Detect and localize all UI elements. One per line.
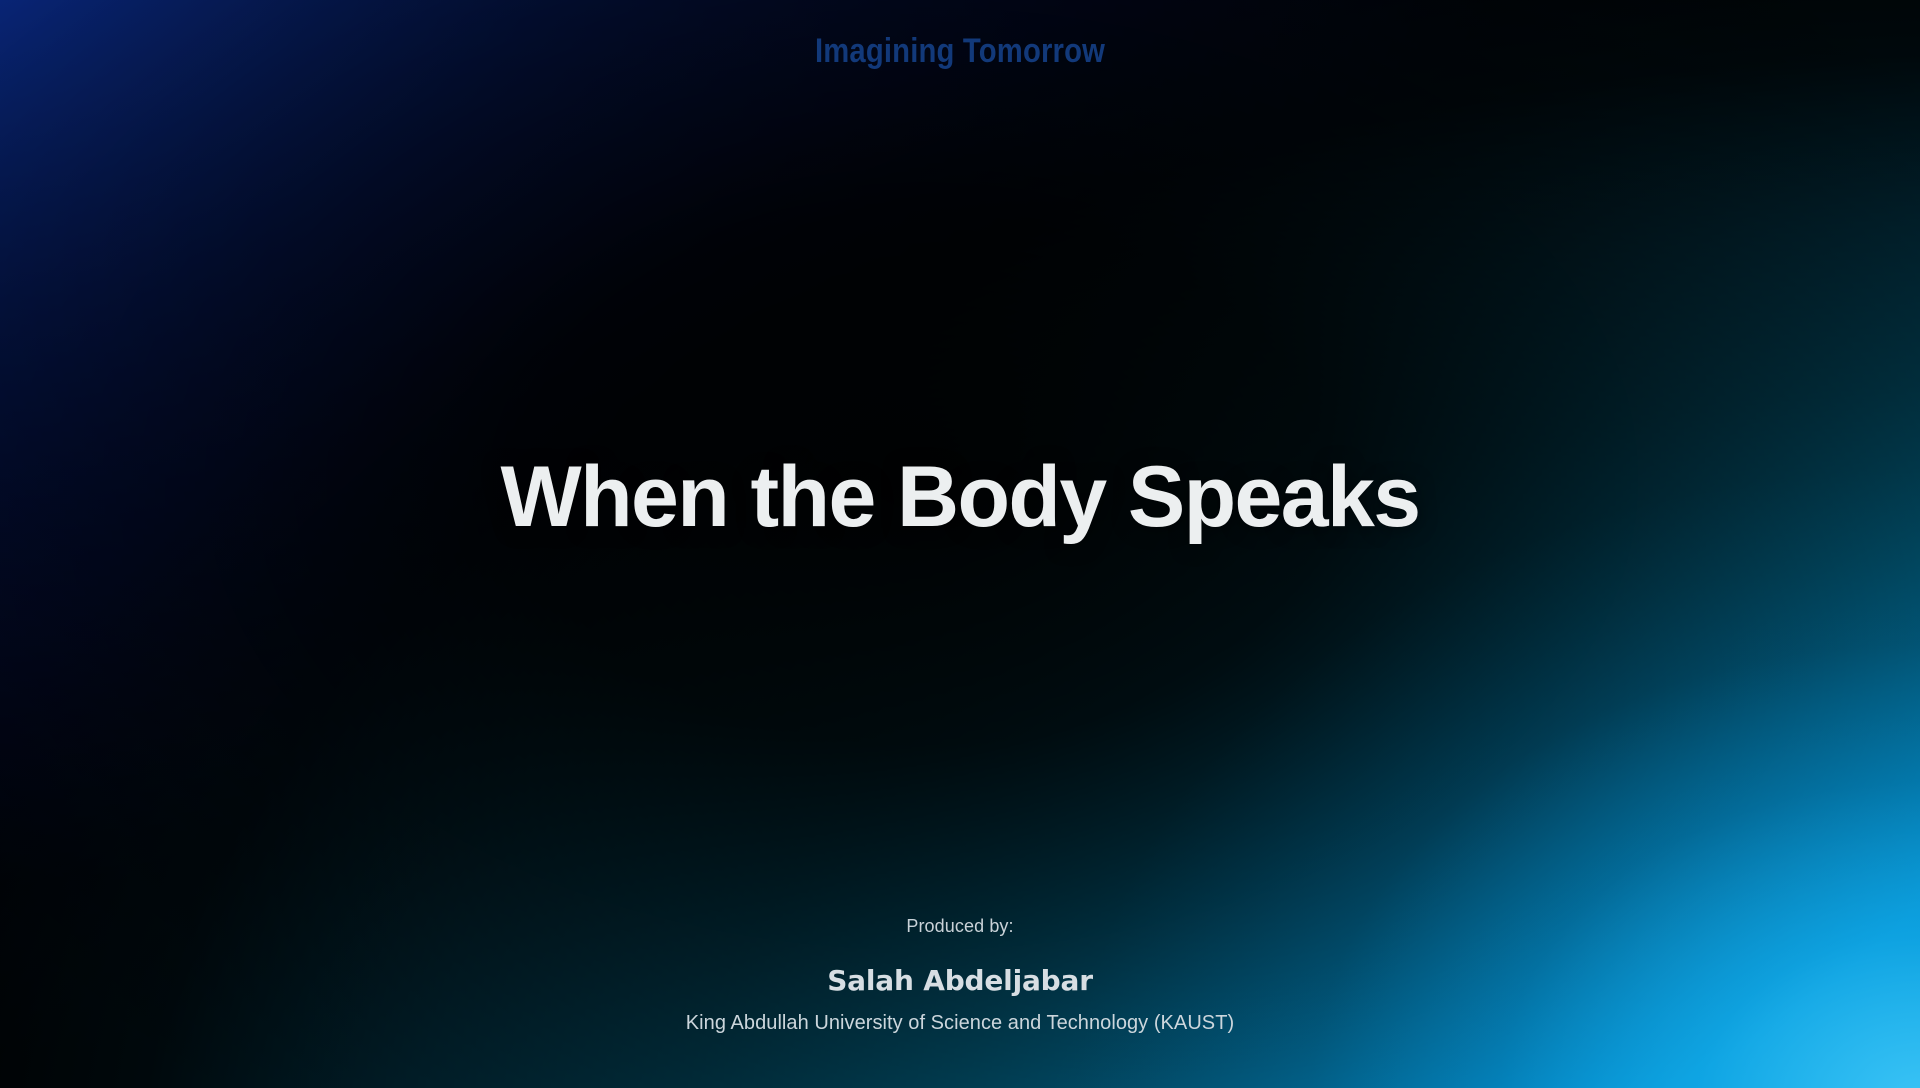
author-affiliation: King Abdullah University of Science and … (0, 1010, 1920, 1036)
title-block: When the Body Speaks (0, 452, 1920, 543)
author-name: Salah Abdeljabar (0, 964, 1920, 998)
title-slide: Imagining Tomorrow When the Body Speaks … (0, 0, 1920, 1088)
slide-content: Imagining Tomorrow When the Body Speaks … (0, 0, 1920, 1088)
credits-block: Produced by: Salah Abdeljabar King Abdul… (0, 916, 1920, 1036)
produced-by-label: Produced by: (0, 916, 1920, 938)
page-title: When the Body Speaks (0, 452, 1920, 543)
series-watermark: Imagining Tomorrow (134, 34, 1785, 68)
